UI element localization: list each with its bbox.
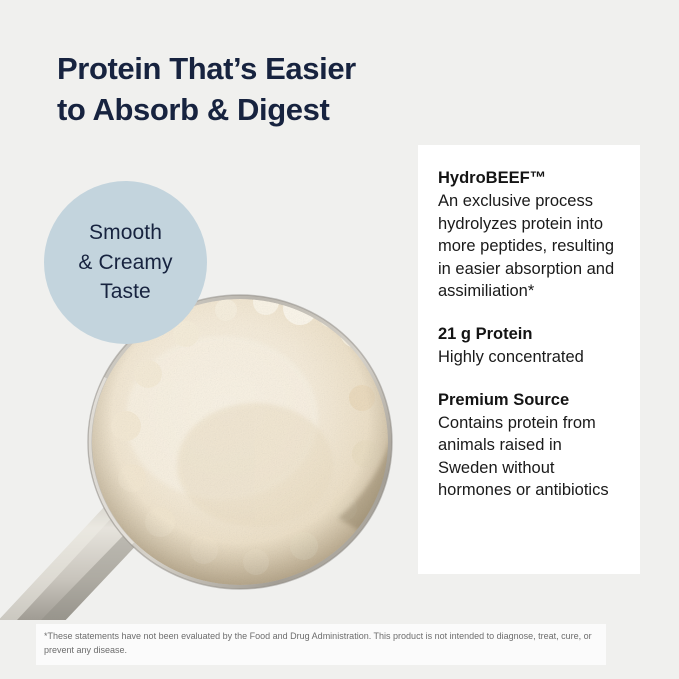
feature-block-protein: 21 g Protein Highly concentrated <box>438 323 624 369</box>
feature-panel: HydroBEEF™ An exclusive process hydrolyz… <box>418 145 640 574</box>
badge-line-2: & Creamy <box>78 248 172 278</box>
page-title-line-2: to Absorb & Digest <box>57 89 447 130</box>
badge-line-3: Taste <box>78 277 172 307</box>
feature-block-premium-source: Premium Source Contains protein from ani… <box>438 389 624 502</box>
feature-title-hydrobeef: HydroBEEF™ <box>438 167 624 189</box>
feature-block-hydrobeef: HydroBEEF™ An exclusive process hydrolyz… <box>438 167 624 303</box>
page-title-line-1: Protein That’s Easier <box>57 51 356 86</box>
feature-body-premium-source: Contains protein from animals raised in … <box>438 412 624 502</box>
badge-label: Smooth & Creamy Taste <box>78 218 172 307</box>
badge-line-1: Smooth <box>78 218 172 248</box>
feature-title-protein: 21 g Protein <box>438 323 624 345</box>
disclaimer-footnote: *These statements have not been evaluate… <box>36 624 606 665</box>
infographic-canvas: Protein That’s Easier to Absorb & Digest <box>0 0 679 679</box>
feature-title-premium-source: Premium Source <box>438 389 624 411</box>
page-title: Protein That’s Easier to Absorb & Digest <box>57 48 447 130</box>
status-badge: Smooth & Creamy Taste <box>44 181 207 344</box>
feature-body-protein: Highly concentrated <box>438 346 624 368</box>
feature-body-hydrobeef: An exclusive process hydrolyzes protein … <box>438 190 624 302</box>
